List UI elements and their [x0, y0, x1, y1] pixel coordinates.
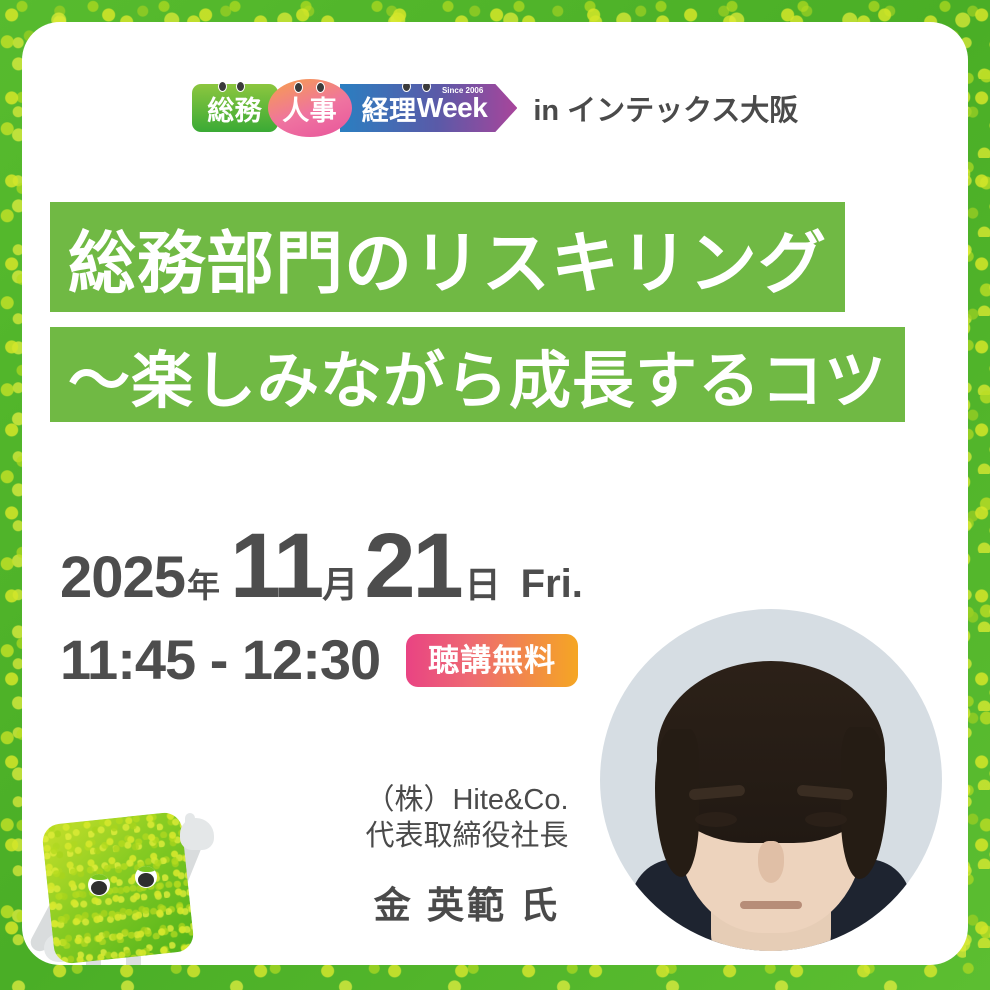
- date-day-unit: 日: [465, 567, 501, 603]
- date-weekday: Fri.: [521, 564, 583, 604]
- logo-segment-keiri-label: 経理: [362, 89, 417, 128]
- mascot-hand-right: [180, 818, 214, 850]
- portrait-mouth: [740, 901, 802, 909]
- event-logo: 総務 人事 経理 Week Since 2006: [192, 79, 799, 137]
- speaker-company: （株）Hite&Co.: [322, 782, 612, 818]
- event-header: 総務 人事 経理 Week Since 2006: [22, 76, 968, 140]
- date-month: 11: [230, 520, 321, 612]
- logo-segment-soumu: 総務: [192, 84, 278, 132]
- logo-segment-jinji-label: 人事: [282, 89, 337, 128]
- mascot-eye-left-icon: [88, 874, 110, 896]
- speaker-name: 金 英範 氏: [322, 875, 612, 929]
- seminar-poster: 総務 人事 経理 Week Since 2006: [0, 0, 990, 990]
- mascot-eyelid: [88, 874, 110, 880]
- logo-eye-icon: [316, 82, 325, 93]
- session-title-line-2: 〜楽しみながら成長するコツ: [50, 327, 905, 422]
- date-day: 21: [364, 520, 460, 612]
- mascot-character: [30, 810, 230, 965]
- mascot-body: [41, 811, 195, 965]
- session-time: 11:45 - 12:30: [60, 632, 380, 688]
- logo-segment-keiri: 経理 Week Since 2006: [340, 84, 518, 132]
- mascot-pupil: [138, 873, 154, 887]
- speaker-portrait-photo: [600, 609, 942, 951]
- session-title-line-1: 総務部門のリスキリング: [50, 202, 845, 312]
- portrait-eye-left: [695, 812, 737, 827]
- poster-white-card: 総務 人事 経理 Week Since 2006: [22, 22, 968, 965]
- portrait-eye-right: [805, 812, 847, 827]
- mascot-pupil: [91, 881, 107, 895]
- speaker-info: （株）Hite&Co. 代表取締役社長 金 英範 氏: [322, 782, 612, 929]
- logo-week-label: Week: [417, 92, 488, 124]
- logo-eye-icon: [236, 81, 245, 92]
- mascot-eyelid: [135, 866, 157, 872]
- portrait-nose: [758, 841, 784, 883]
- event-venue-label: in インテックス大阪: [533, 87, 798, 129]
- speaker-job-title: 代表取締役社長: [322, 818, 612, 854]
- logo-since-label: Since 2006: [442, 87, 483, 95]
- logo-eye-icon: [402, 81, 411, 92]
- portrait-hair-right: [841, 727, 887, 879]
- schedule-block: 2025 年 11 月 21 日 Fri. 11:45 - 12:30 聴講無料: [60, 520, 680, 688]
- session-date: 2025 年 11 月 21 日 Fri.: [60, 520, 680, 612]
- session-time-row: 11:45 - 12:30 聴講無料: [60, 632, 680, 688]
- date-month-unit: 月: [322, 567, 358, 603]
- logo-eye-icon: [294, 82, 303, 93]
- event-logo-mark: 総務 人事 経理 Week Since 2006: [192, 79, 518, 137]
- logo-segment-jinji: 人事: [268, 79, 352, 137]
- free-admission-badge: 聴講無料: [406, 634, 578, 687]
- portrait-hair-left: [655, 729, 699, 877]
- date-year: 2025: [60, 549, 185, 607]
- logo-eye-icon: [422, 81, 431, 92]
- date-year-unit: 年: [187, 569, 220, 602]
- logo-eye-icon: [218, 81, 227, 92]
- logo-segment-soumu-label: 総務: [207, 89, 262, 128]
- mascot-eye-right-icon: [135, 866, 157, 888]
